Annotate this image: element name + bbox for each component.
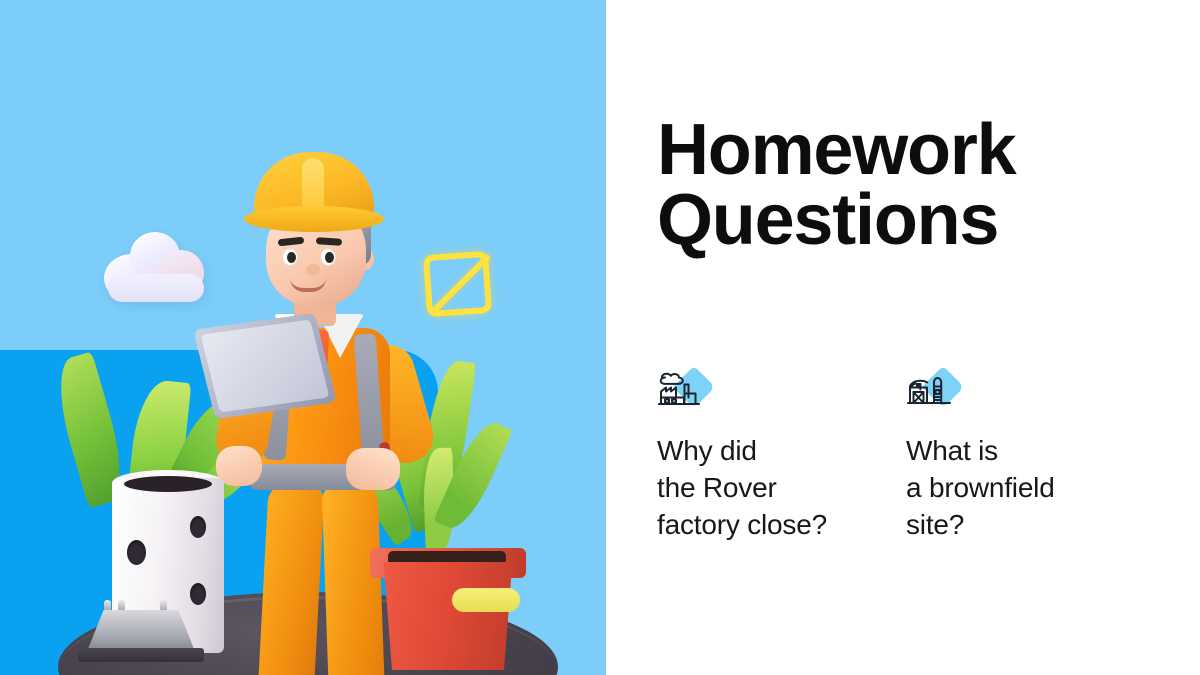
cloud-icon (104, 228, 208, 302)
worker-pupil (325, 252, 334, 263)
question-item: Why did the Rover factory close? (657, 368, 867, 544)
illustration-panel (0, 0, 606, 675)
worker-pupil (287, 252, 296, 263)
worker-hand-right (346, 448, 400, 490)
worker-hand-left (216, 446, 262, 486)
slide-root: Homework Questions (0, 0, 1200, 675)
factory-glyph (657, 368, 703, 408)
worker-leg-right (322, 481, 387, 675)
hard-hat-brim (244, 206, 384, 232)
questions-row: Why did the Rover factory close? (657, 368, 1116, 544)
planter-soil (124, 476, 212, 492)
page-title: Homework Questions (657, 116, 1097, 256)
barn-glyph (906, 368, 952, 408)
pot-label-tag (452, 588, 520, 612)
tablet-screen (201, 319, 330, 412)
barn-silo-icon (906, 368, 962, 410)
content-panel: Homework Questions (606, 0, 1200, 675)
metal-object-base (78, 648, 204, 662)
worker-leg-left (255, 481, 325, 675)
worker-nose (306, 264, 320, 276)
factory-icon (657, 368, 713, 410)
tablet-device (193, 313, 337, 419)
question-item: What is a brownfield site? (906, 368, 1116, 544)
red-square-pot (378, 562, 518, 670)
question-text: Why did the Rover factory close? (657, 432, 867, 544)
question-text: What is a brownfield site? (906, 432, 1116, 544)
